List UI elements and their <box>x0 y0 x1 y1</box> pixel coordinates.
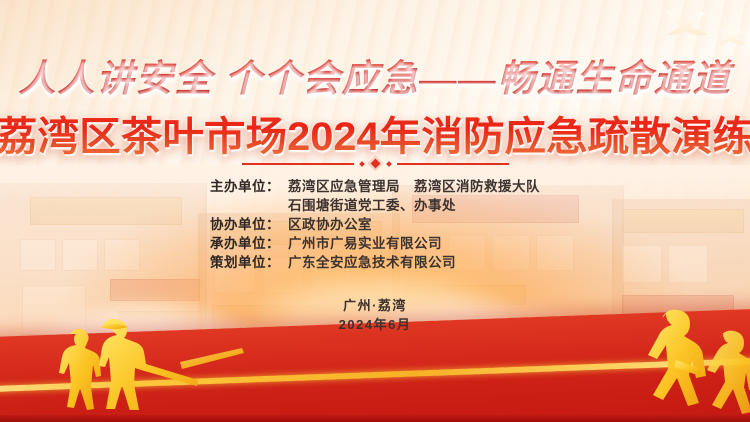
divider-dot <box>359 161 365 167</box>
credit-row: 主办单位：荔湾区应急管理局 荔湾区消防救援大队 <box>210 178 540 196</box>
credit-label: 协办单位： <box>210 216 288 234</box>
credit-value: 区政协办公室 <box>288 216 540 234</box>
credit-value: 荔湾区应急管理局 荔湾区消防救援大队 <box>288 178 540 196</box>
footer-date: 2024年6月 <box>0 315 750 334</box>
running-person-silhouette <box>692 330 750 422</box>
credits-block: 主办单位：荔湾区应急管理局 荔湾区消防救援大队石围塘街道党工委、办事处协办单位：… <box>0 178 750 272</box>
footer-place: 广州·荔湾 <box>0 296 750 315</box>
credit-row: 策划单位：广东全安应急技术有限公司 <box>210 254 540 272</box>
poster-canvas: 人人讲安全 个个会应急——畅通生命通道 荔湾区茶叶市场2024年消防应急疏散演练… <box>0 0 750 422</box>
flying-doves-icon <box>660 6 718 40</box>
poster-slogan: 人人讲安全 个个会应急——畅通生命通道 <box>0 48 750 102</box>
credit-value: 广东全安应急技术有限公司 <box>288 254 540 272</box>
divider-diamond-icon <box>367 156 383 172</box>
credit-label: 策划单位： <box>210 254 288 272</box>
diamond-divider <box>0 158 750 169</box>
credit-label: 承办单位： <box>210 235 288 253</box>
divider-dot <box>386 161 392 167</box>
divider-line-left <box>242 163 354 165</box>
credit-label: 主办单位： <box>210 178 288 196</box>
divider-line-right <box>397 163 509 165</box>
credit-row: 承办单位：广州市广易实业有限公司 <box>210 235 540 253</box>
credit-value: 石围塘街道党工委、办事处 <box>288 197 540 215</box>
credit-value: 广州市广易实业有限公司 <box>288 235 540 253</box>
credit-row: 石围塘街道党工委、办事处 <box>210 197 540 215</box>
flying-doves-icon <box>716 26 750 46</box>
page-title: 荔湾区茶叶市场2024年消防应急疏散演练 <box>0 104 750 162</box>
credit-row: 协办单位：区政协办公室 <box>210 216 540 234</box>
poster-footer: 广州·荔湾 2024年6月 <box>0 296 750 334</box>
